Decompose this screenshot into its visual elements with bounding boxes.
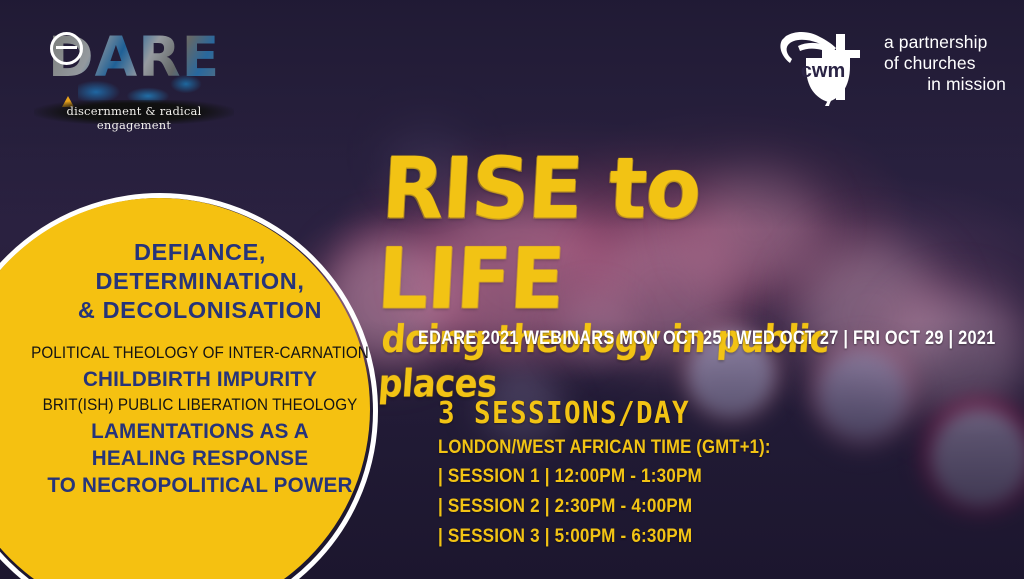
- topic-subtitle: POLITICAL THEOLOGY OF INTER-CARNATION: [18, 341, 383, 366]
- topic-title: CHILDBIRTH IMPURITY: [14, 366, 386, 393]
- event-title-block: RISE to LIFE doing theology in public pl…: [380, 148, 880, 402]
- dare-logo: DARE discernment & radical engagement: [34, 26, 234, 124]
- sessions-heading: 3 SESSIONS/DAY: [438, 396, 690, 431]
- dateline: EDARE 2021 WEBINARS MON OCT 25 | WED OCT…: [418, 328, 995, 350]
- topic-heading-line3: & DECOLONISATION: [6, 296, 394, 325]
- topic-heading-line2: DETERMINATION,: [6, 267, 394, 296]
- topic-title: HEALING RESPONSE: [14, 445, 386, 472]
- session-row: | SESSION 3 | 5:00PM - 6:30PM: [438, 522, 702, 552]
- topic-panel-heading: DEFIANCE, DETERMINATION, & DECOLONISATIO…: [6, 238, 394, 325]
- cwm-logo: cwm a partnership of churches in mission: [776, 28, 1004, 108]
- cwm-tagline-line3: in mission: [884, 74, 1006, 95]
- page-title: RISE to LIFE: [375, 144, 884, 325]
- cwm-tagline-line1: a partnership: [884, 32, 1006, 53]
- topic-subtitle: BRIT(ISH) PUBLIC LIBERATION THEOLOGY: [18, 393, 383, 418]
- topic-heading-line1: DEFIANCE,: [6, 238, 394, 267]
- svg-text:cwm: cwm: [801, 60, 845, 82]
- topic-title: LAMENTATIONS AS A: [14, 418, 386, 445]
- session-list: | SESSION 1 | 12:00PM - 1:30PM| SESSION …: [438, 462, 731, 552]
- cwm-tagline: a partnership of churches in mission: [884, 32, 1006, 95]
- topic-title: TO NECROPOLITICAL POWER: [14, 472, 386, 499]
- cwm-dove-cross-shield-icon: cwm: [776, 28, 880, 106]
- sessions-timezone: LONDON/WEST AFRICAN TIME (GMT+1):: [438, 437, 771, 459]
- dare-tagline: discernment & radical engagement: [34, 104, 234, 132]
- cwm-tagline-line2: of churches: [884, 53, 1006, 74]
- session-row: | SESSION 2 | 2:30PM - 4:00PM: [438, 492, 702, 522]
- session-row: | SESSION 1 | 12:00PM - 1:30PM: [438, 462, 702, 492]
- promo-banner: DARE discernment & radical engagement cw…: [0, 0, 1024, 579]
- topic-list: POLITICAL THEOLOGY OF INTER-CARNATIONCHI…: [6, 341, 394, 499]
- topic-panel-content: DEFIANCE, DETERMINATION, & DECOLONISATIO…: [6, 238, 394, 499]
- dare-e-icon: [50, 32, 83, 65]
